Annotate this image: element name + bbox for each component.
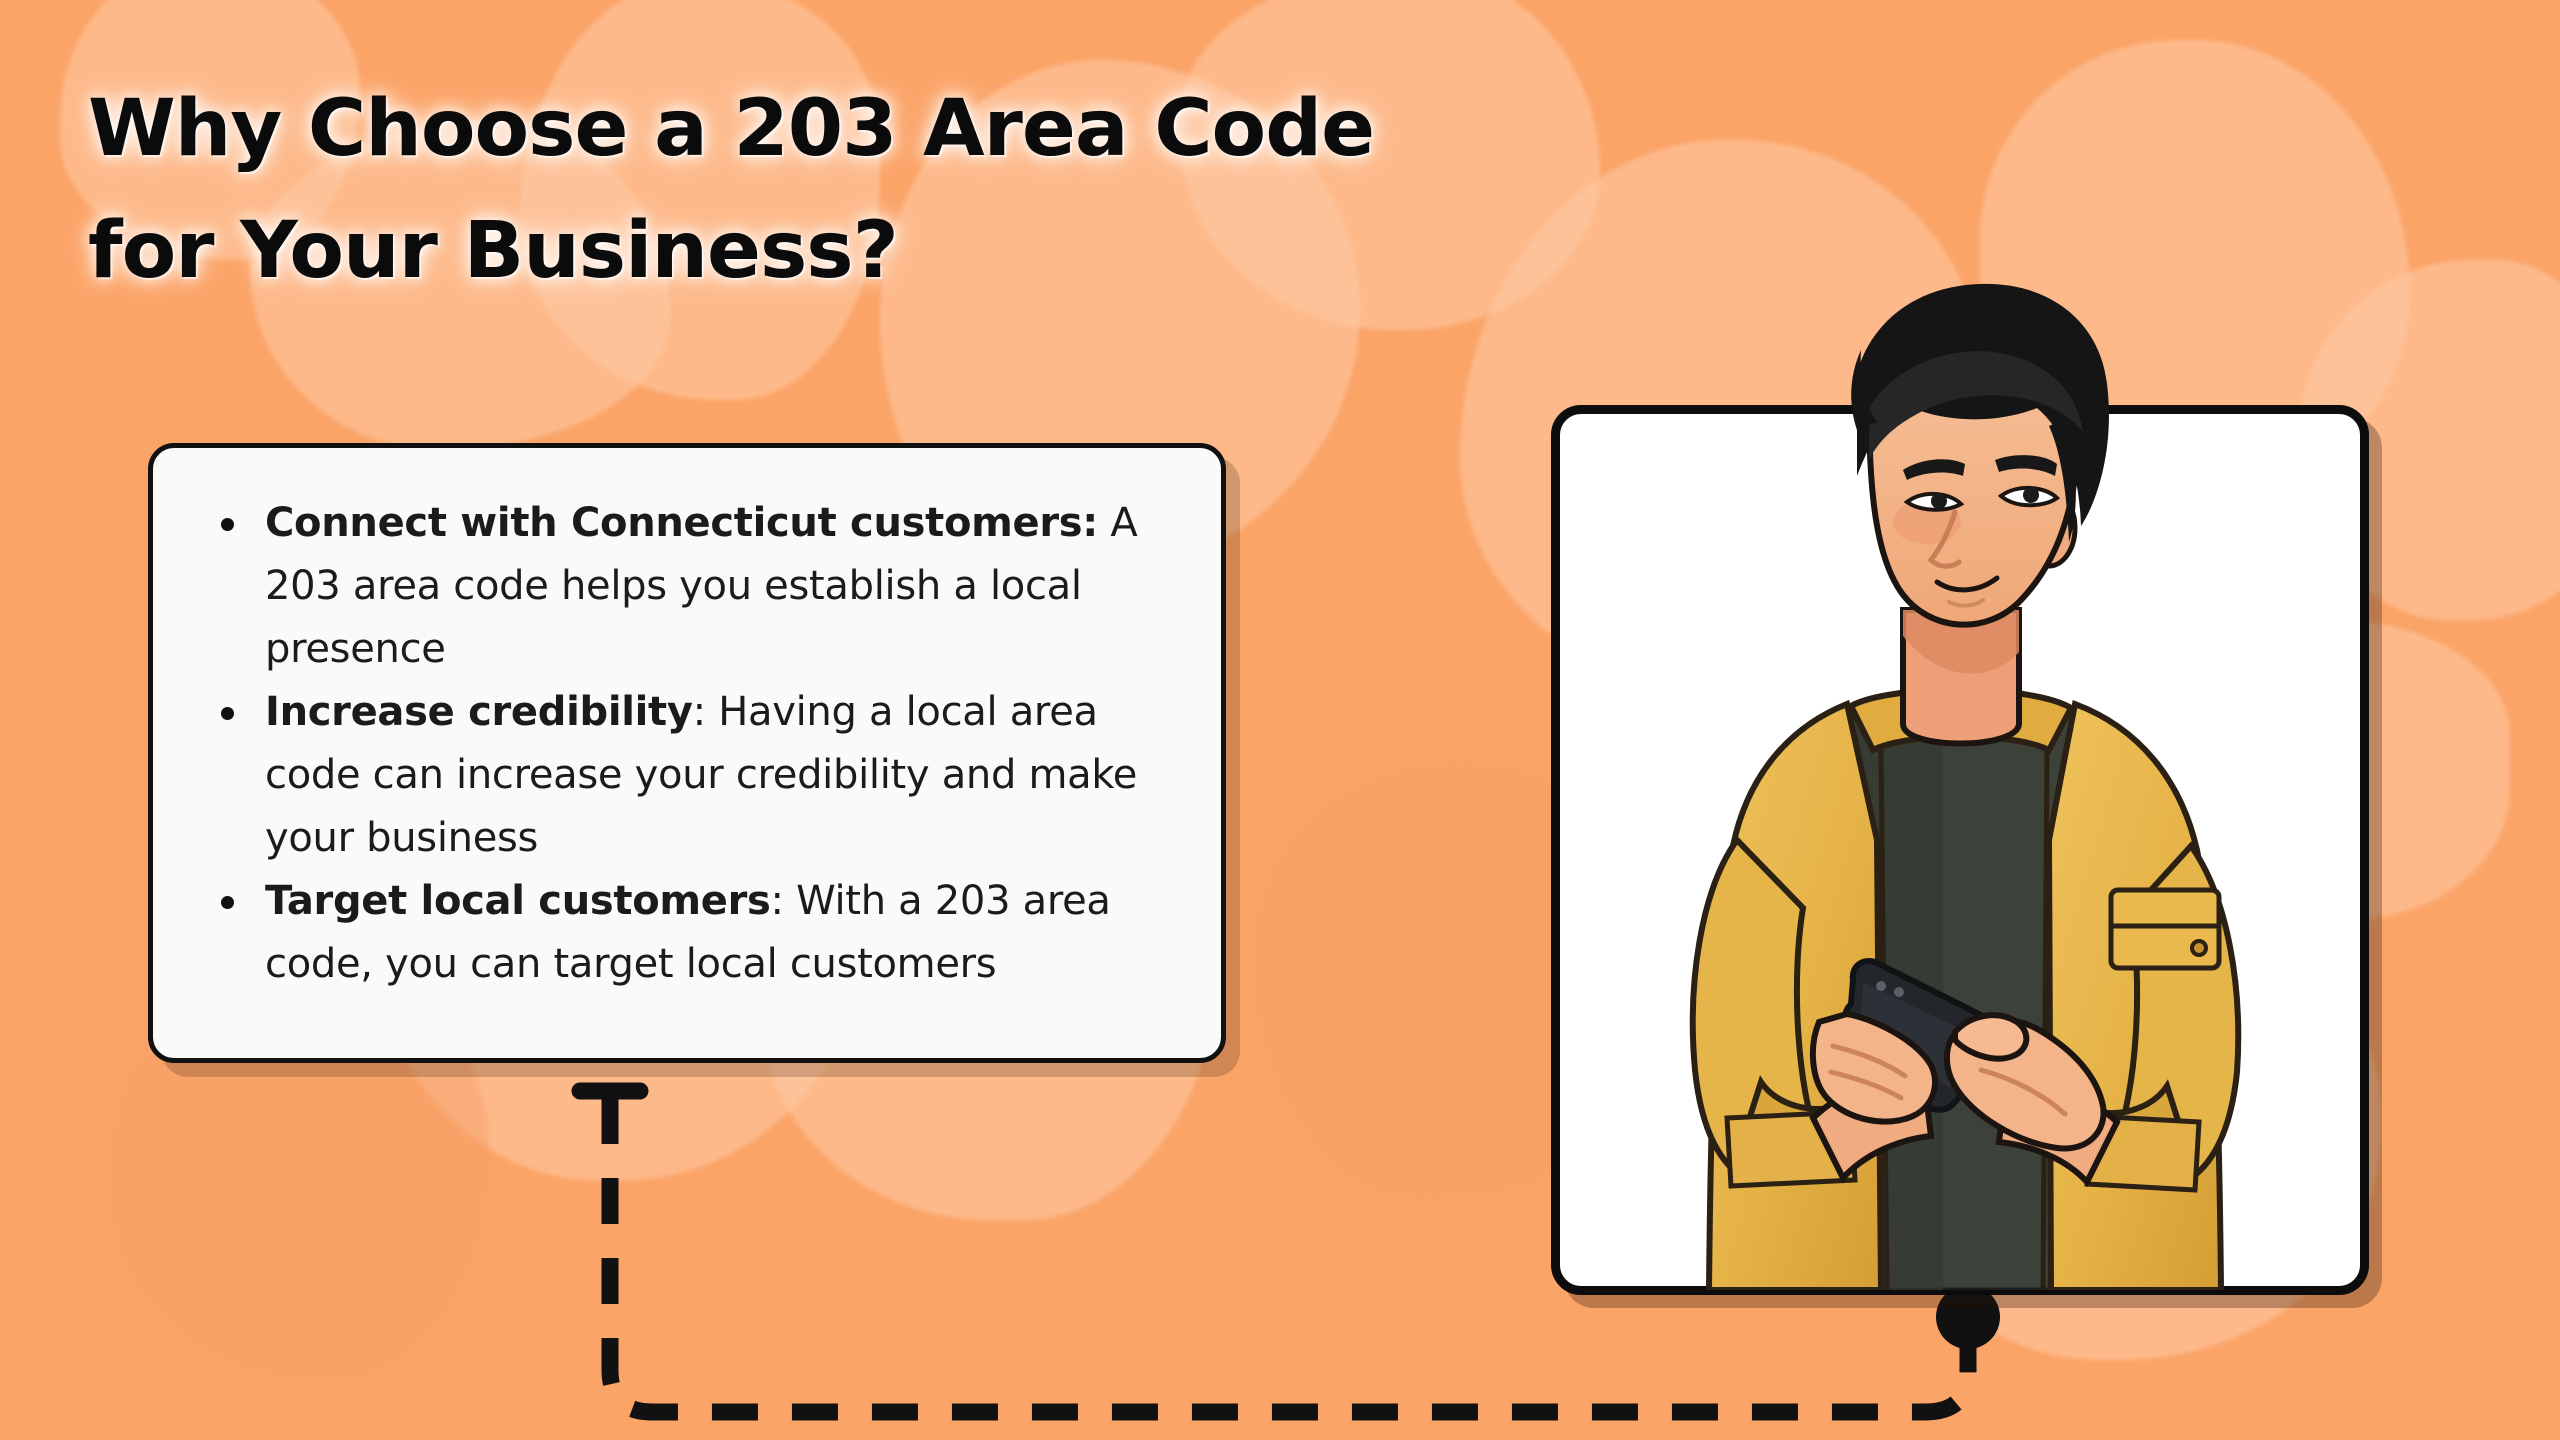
page-title-line-2: for Your Business?	[88, 190, 1618, 312]
list-item: Increase credibility: Having a local are…	[199, 681, 1175, 870]
benefits-card: Connect with Connecticut customers: A 20…	[148, 443, 1226, 1063]
list-item: Target local customers: With a 203 area …	[199, 870, 1175, 996]
bullet-lead: Target local customers	[265, 878, 771, 924]
photo-frame	[1551, 405, 2369, 1295]
bullet-lead: Connect with Connecticut customers:	[265, 500, 1098, 546]
page-title: Why Choose a 203 Area Code for Your Busi…	[88, 68, 1588, 312]
poster-canvas: Why Choose a 203 Area Code for Your Busi…	[0, 0, 2560, 1440]
benefits-list: Connect with Connecticut customers: A 20…	[199, 492, 1175, 996]
page-title-line-1: Why Choose a 203 Area Code	[88, 68, 1618, 190]
bullet-lead: Increase credibility	[265, 689, 693, 735]
list-item: Connect with Connecticut customers: A 20…	[199, 492, 1175, 681]
